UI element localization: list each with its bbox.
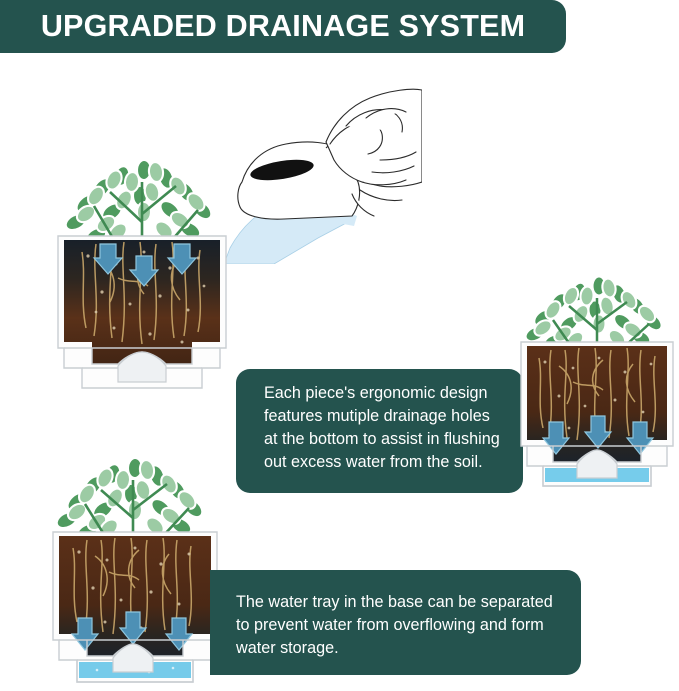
planter-bottom-left-illustration [45, 452, 225, 691]
callout-drainage-holes: Each piece's ergonomic design features m… [236, 369, 523, 493]
foliage-bottom-left [54, 458, 206, 544]
callout-1-line-4: out excess water from the soil. [264, 451, 523, 474]
foliage-top-left [63, 160, 215, 248]
infographic-page: UPGRADED DRAINAGE SYSTEM [0, 0, 679, 691]
planter-top-left-illustration [52, 152, 232, 400]
callout-2-line-2: to prevent water from overflowing and fo… [236, 614, 581, 637]
callout-1-line-2: features mutiple drainage holes [264, 405, 523, 428]
water-flow-arrows-down [543, 416, 653, 454]
callout-2-line-3: water storage. [236, 637, 581, 660]
planter-right-illustration [515, 272, 679, 498]
title-banner: UPGRADED DRAINAGE SYSTEM [0, 0, 566, 53]
callout-1-line-1: Each piece's ergonomic design [264, 382, 523, 405]
page-title: UPGRADED DRAINAGE SYSTEM [41, 9, 525, 44]
callout-water-tray: The water tray in the base can be separa… [210, 570, 581, 675]
callout-1-line-3: at the bottom to assist in flushing [264, 428, 523, 451]
callout-2-line-1: The water tray in the base can be separa… [236, 591, 581, 614]
hand-pouring-watering-can-illustration [222, 86, 422, 264]
foliage-right [523, 277, 665, 353]
